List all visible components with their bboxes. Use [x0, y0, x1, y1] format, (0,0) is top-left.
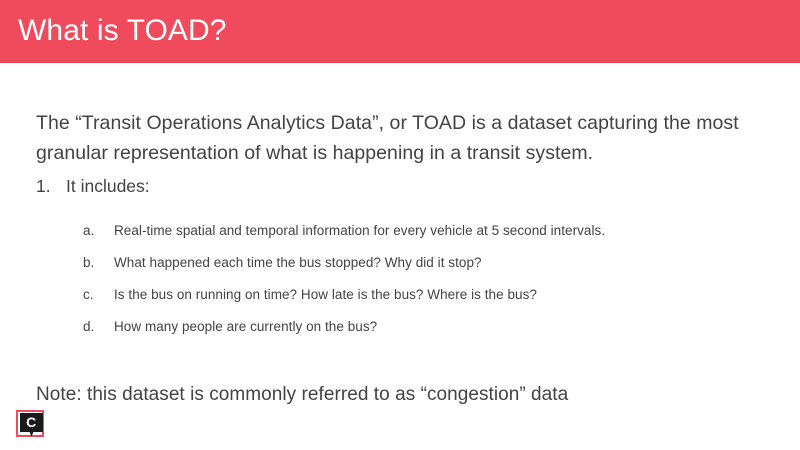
list-marker-a: a.: [83, 215, 114, 247]
logo-letter: C: [26, 414, 36, 430]
list-item-c-label: Is the bus on running on time? How late …: [114, 279, 763, 311]
list-item-d-label: How many people are currently on the bus…: [114, 311, 763, 343]
list-marker-level1: 1.: [36, 173, 66, 199]
speech-bubble-logo-icon: C: [16, 410, 46, 442]
list-item-level1-label: It includes:: [66, 173, 736, 199]
sublist-level2: a. Real-time spatial and temporal inform…: [83, 215, 763, 343]
list-item-a-label: Real-time spatial and temporal informati…: [114, 215, 763, 247]
list-item-b-label: What happened each time the bus stopped?…: [114, 247, 763, 279]
list-item: c. Is the bus on running on time? How la…: [83, 279, 763, 311]
note-paragraph: Note: this dataset is commonly referred …: [36, 381, 758, 409]
list-marker-c: c.: [83, 279, 114, 311]
list-marker-d: d.: [83, 311, 114, 343]
list-item: b. What happened each time the bus stopp…: [83, 247, 763, 279]
page-title: What is TOAD?: [18, 11, 227, 51]
slide-body: The “Transit Operations Analytics Data”,…: [0, 63, 800, 450]
list-item: a. Real-time spatial and temporal inform…: [83, 215, 763, 247]
presentation-slide: What is TOAD? The “Transit Operations An…: [0, 0, 800, 450]
intro-paragraph: The “Transit Operations Analytics Data”,…: [36, 108, 758, 168]
list-marker-b: b.: [83, 247, 114, 279]
slide-header-band: What is TOAD?: [0, 0, 800, 63]
list-item-level1: 1. It includes:: [36, 173, 736, 199]
list-item: d. How many people are currently on the …: [83, 311, 763, 343]
